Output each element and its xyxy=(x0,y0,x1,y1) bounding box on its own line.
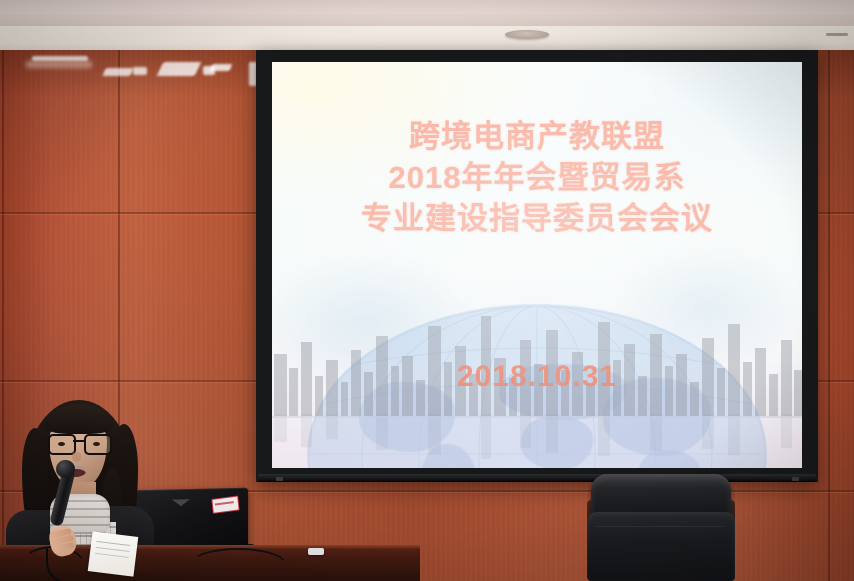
executive-office-chair xyxy=(587,474,735,581)
eye xyxy=(58,442,65,446)
wall-light-reflection xyxy=(26,61,92,68)
wall-light-reflection xyxy=(210,64,233,71)
wall-seam xyxy=(0,212,256,214)
skyline-reflection-graphic xyxy=(272,414,802,468)
wall-seam xyxy=(2,50,4,581)
paper-notes-icon xyxy=(88,531,139,576)
chair-headrest xyxy=(591,474,731,516)
slide-title-block: 跨境电商产教联盟 2018年年会暨贸易系 专业建设指导委员会会议 xyxy=(272,116,802,240)
ceiling-upper-band xyxy=(0,0,854,14)
presentation-photo-scene: 跨境电商产教联盟 2018年年会暨贸易系 专业建设指导委员会会议 2018.10… xyxy=(0,0,854,581)
slide-title-line-1: 跨境电商产教联盟 xyxy=(272,116,802,157)
desk-object xyxy=(308,548,324,555)
eyeglasses-icon xyxy=(49,434,108,451)
chair-seam xyxy=(597,526,725,527)
chair-backrest xyxy=(587,512,735,581)
wall-light-reflection xyxy=(102,68,133,76)
slide-date: 2018.10.31 xyxy=(272,360,802,394)
wall-seam xyxy=(0,380,256,382)
slide-title-line-3: 专业建设指导委员会会议 xyxy=(272,198,802,239)
eyeglass-lens xyxy=(48,434,76,455)
slide-title-line-2: 2018年年会暨贸易系 xyxy=(272,157,802,198)
screen-roller-knob xyxy=(276,477,283,481)
city-skyline-graphic xyxy=(272,296,802,416)
wall-light-reflection xyxy=(133,67,147,75)
ceiling-vent-icon xyxy=(505,30,549,39)
skyline-waterline xyxy=(272,416,802,418)
laptop-logo-icon xyxy=(172,499,190,506)
asset-tag-sticker xyxy=(211,496,239,514)
eye xyxy=(93,442,100,446)
wall-seam xyxy=(828,50,830,581)
screen-roller-knob xyxy=(792,477,799,481)
projected-slide: 跨境电商产教联盟 2018年年会暨贸易系 专业建设指导委员会会议 2018.10… xyxy=(272,62,802,468)
ceiling-fixture-mark xyxy=(826,33,848,36)
eyeglass-bridge xyxy=(73,440,84,442)
microphone-head xyxy=(56,460,75,478)
nose xyxy=(72,452,81,462)
eyeglass-lens xyxy=(84,434,112,455)
wall-light-reflection xyxy=(157,62,202,76)
